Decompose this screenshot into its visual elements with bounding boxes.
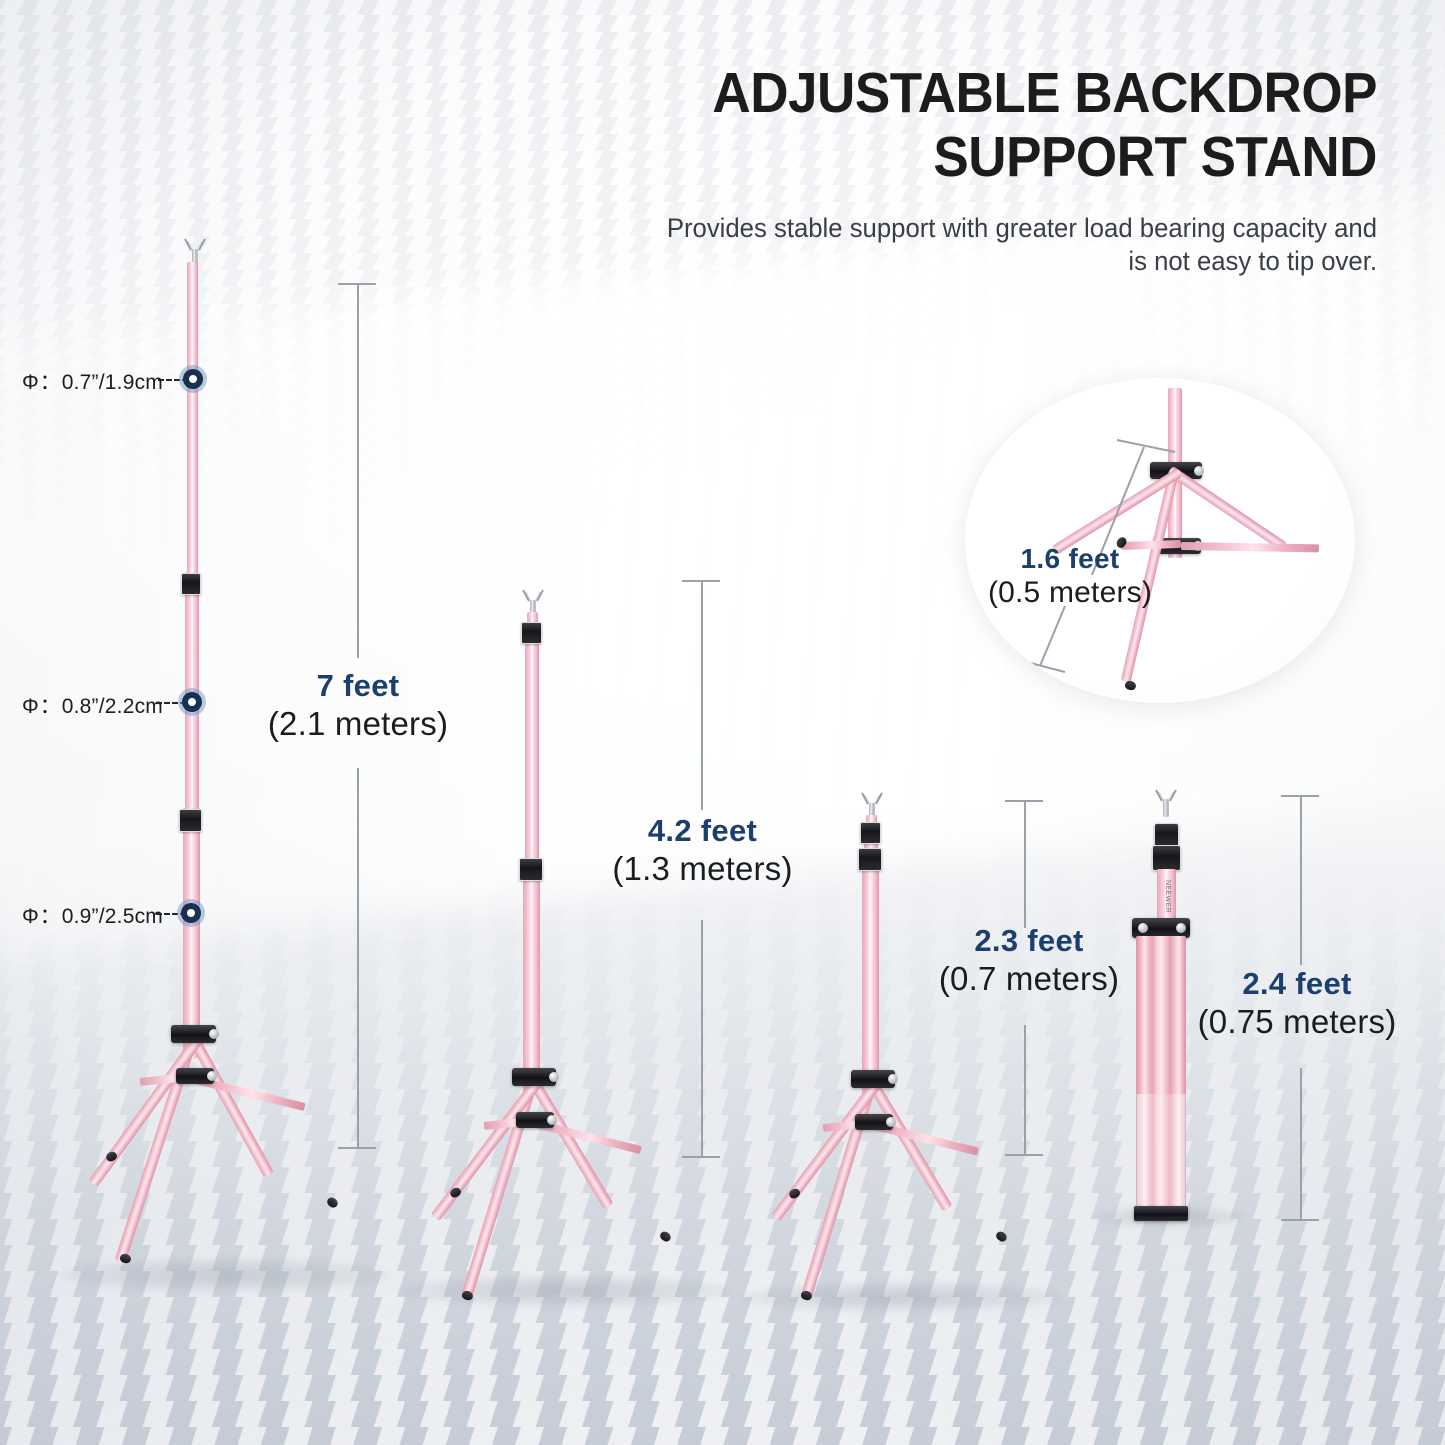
stand-3-lock-collar-2[interactable] — [858, 848, 882, 871]
diameter-callout-1-phi: Φ： — [22, 371, 62, 394]
measure-2-feet: 4.2 feet — [580, 815, 825, 846]
diameter-callout-2-phi: Φ： — [22, 695, 62, 718]
measure-1-meters: (2.1 meters) — [238, 707, 478, 740]
inset-meters: (0.5 meters) — [975, 578, 1165, 608]
diameter-callout-3: Φ：0.9”/2.5cm — [22, 900, 163, 930]
stand-3-lock-collar-1[interactable] — [860, 822, 881, 844]
measure-3-line-lower — [1024, 1025, 1026, 1155]
measure-4-label: 2.4 feet (0.75 meters) — [1172, 968, 1422, 1038]
stand-3-shadow — [740, 1282, 1060, 1312]
inset-label: 1.6 feet (0.5 meters) — [975, 545, 1165, 608]
measure-2-line-upper — [701, 580, 703, 810]
stand-4-bottom-cap — [1134, 1206, 1188, 1221]
measure-1-line-upper — [357, 283, 359, 658]
measure-1-cap-bottom — [338, 1147, 376, 1149]
pole-segment-lower-mid — [183, 808, 200, 1058]
stand-2-shadow — [400, 1275, 730, 1307]
measure-4-cap-bottom — [1281, 1219, 1319, 1221]
stand-1-hub-clamp-upper[interactable] — [171, 1025, 216, 1043]
title-line-2: SUPPORT STAND — [596, 126, 1377, 190]
stand-4-lower-sleeve — [1136, 1094, 1186, 1218]
measure-4-line-upper — [1300, 795, 1302, 965]
pole-segment-top — [187, 262, 198, 587]
stand-2-hub-clamp-upper[interactable] — [512, 1068, 556, 1086]
diameter-marker-3 — [181, 903, 201, 923]
top-fork-icon-4 — [1151, 787, 1181, 821]
stand-1-shadow — [60, 1258, 390, 1292]
diameter-callout-2-value: 0.8”/2.2cm — [62, 695, 163, 718]
measure-2-meters: (1.3 meters) — [580, 852, 825, 885]
stand-2-pole-lower-mid — [523, 862, 540, 1094]
inset-foot-front — [1124, 680, 1137, 691]
lock-collar-1[interactable] — [181, 573, 201, 595]
diameter-callout-2: Φ：0.8”/2.2cm — [22, 690, 163, 720]
stand-2-pole-upper-mid — [525, 634, 539, 866]
inset-feet: 1.6 feet — [975, 545, 1165, 573]
stand-3-hub-clamp-upper[interactable] — [851, 1070, 895, 1088]
diameter-callout-1: Φ：0.7”/1.9cm — [22, 366, 163, 396]
diameter-callout-3-value: 0.9”/2.5cm — [62, 905, 163, 928]
diameter-marker-2 — [182, 692, 202, 712]
stand-1-hub-clamp-lower[interactable] — [176, 1068, 214, 1084]
stand-3-hub-clamp-lower[interactable] — [855, 1114, 893, 1130]
measure-4-line-lower — [1300, 1068, 1302, 1220]
measure-2-label: 4.2 feet (1.3 meters) — [580, 815, 825, 885]
lock-collar-2[interactable] — [179, 809, 202, 832]
subtitle-line-2: is not easy to tip over. — [562, 245, 1377, 278]
brand-label: NEEWER — [1164, 880, 1171, 913]
leg-spread-detail-inset: 1.6 feet (0.5 meters) — [965, 378, 1355, 703]
measure-3-cap-bottom — [1005, 1154, 1043, 1156]
measure-3-label: 2.3 feet (0.7 meters) — [913, 925, 1145, 995]
stand-2-lock-collar-2[interactable] — [519, 858, 543, 881]
diameter-callout-1-value: 0.7”/1.9cm — [62, 371, 163, 394]
page-subtitle: Provides stable support with greater loa… — [562, 212, 1377, 279]
measure-1-label: 7 feet (2.1 meters) — [238, 670, 478, 740]
stand-4-lock-collar-2[interactable] — [1152, 845, 1181, 871]
measure-1-feet: 7 feet — [238, 670, 478, 701]
stand-3-pole-lower-mid — [862, 848, 879, 1096]
measure-1-line-lower — [357, 768, 359, 1148]
subtitle-line-1: Provides stable support with greater loa… — [562, 212, 1377, 245]
title-line-1: ADJUSTABLE BACKDROP — [596, 62, 1377, 126]
header-block: ADJUSTABLE BACKDROP SUPPORT STAND Provid… — [537, 62, 1377, 278]
stand-4-hub-clamp[interactable] — [1132, 918, 1190, 938]
page-title: ADJUSTABLE BACKDROP SUPPORT STAND — [596, 62, 1377, 190]
diameter-callout-3-phi: Φ： — [22, 905, 62, 928]
infographic-canvas: ADJUSTABLE BACKDROP SUPPORT STAND Provid… — [0, 0, 1445, 1445]
diameter-marker-1 — [183, 369, 203, 389]
measure-3-meters: (0.7 meters) — [913, 962, 1145, 995]
measure-4-feet: 2.4 feet — [1172, 968, 1422, 999]
measure-2-line-lower — [701, 920, 703, 1157]
stand-2-lock-collar-1[interactable] — [521, 622, 542, 644]
measure-3-feet: 2.3 feet — [913, 925, 1145, 956]
stand-4-lock-collar-1[interactable] — [1154, 823, 1179, 847]
measure-3-line-upper — [1024, 800, 1026, 928]
measure-2-cap-bottom — [682, 1156, 720, 1158]
measure-4-meters: (0.75 meters) — [1172, 1005, 1422, 1038]
stand-2-hub-clamp-lower[interactable] — [516, 1112, 554, 1128]
